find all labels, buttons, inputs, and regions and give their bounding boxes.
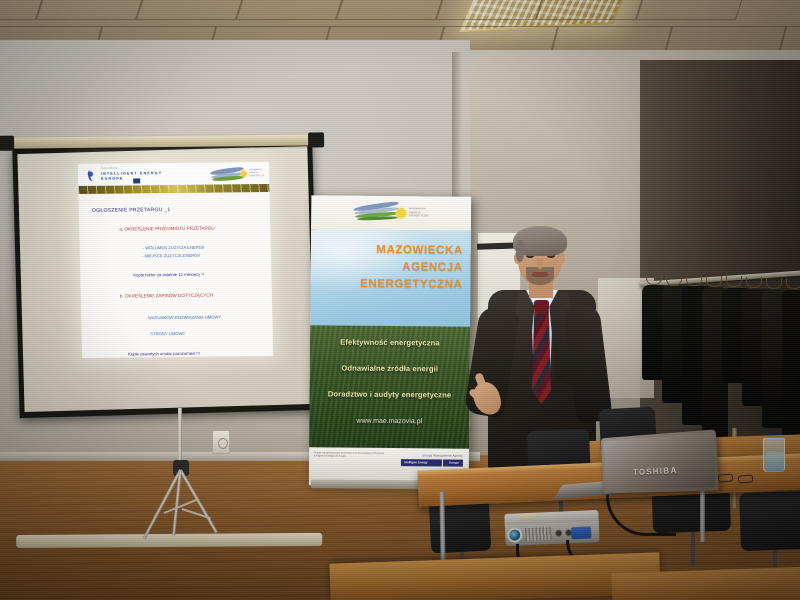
slide-point-a: a. OKREŚLENIE PRZEDMIOTU PRZETARGU <box>119 226 215 232</box>
slide-note-b: Kopie zawartych umów, porozumień !!! <box>128 351 200 357</box>
banner-iee-logo: Intelligent Energy Europe <box>401 459 463 467</box>
mae-sun-icon <box>240 170 247 177</box>
banner-sun-icon <box>396 208 406 218</box>
chair <box>429 498 492 553</box>
rollup-banner: MAZOWIECKAAGENCJAENERGETYCZNA MAZOWIECKA… <box>309 195 472 486</box>
projected-slide: Supported by INTELLIGENT ENERGY EUROPE M… <box>78 162 273 358</box>
banner-swoosh-darkgreen <box>357 216 398 221</box>
ie-line1: INTELLIGENT ENERGY <box>101 171 162 176</box>
presenter-tie <box>532 310 551 404</box>
ceiling-tile <box>36 0 144 20</box>
banner-website-url: www.mae.mazovia.pl <box>309 417 469 425</box>
ceiling-tile <box>236 0 344 20</box>
ceiling-tile <box>536 0 644 20</box>
iee-logo-left: Intelligent Energy <box>404 460 428 464</box>
ceiling-tile <box>436 0 544 20</box>
slide-supported-by: Supported by <box>101 167 118 170</box>
banner-footer-text: Projekt współfinansowany ze środków Unii… <box>314 452 394 459</box>
vga-connector <box>571 526 591 539</box>
mae-logo-caption: MAZOWIECKAAGENCJAENERGETYCZNA <box>249 169 265 178</box>
ceiling-tile <box>636 0 744 20</box>
ceiling-tile <box>136 0 244 20</box>
coat-hanger <box>766 278 782 289</box>
eyeglasses <box>718 474 760 484</box>
intelligent-energy-europe-logo: Supported by INTELLIGENT ENERGY EUROPE <box>87 167 165 183</box>
banner-logo-caption: MAZOWIECKAAGENCJAENERGETYCZNA <box>409 207 429 218</box>
banner-title-line3: ENERGETYCZNA <box>317 275 462 293</box>
eu-flag-icon <box>133 178 140 183</box>
ie-line2: EUROPE <box>101 176 123 180</box>
presenter-mouth <box>532 272 548 277</box>
slide-note-a: Kopie faktur za ostatnie 12 miesięcy !! <box>133 272 204 278</box>
conference-room-photo: Supported by INTELLIGENT ENERGY EUROPE M… <box>0 0 800 600</box>
coat-hanger <box>746 277 762 288</box>
banner-mae-logo: MAZOWIECKAAGENCJAENERGETYCZNA <box>353 202 429 225</box>
coat-hanger <box>786 278 800 289</box>
banner-service-1: Efektywność energetyczna <box>310 337 470 347</box>
slide-item-b1: - WARUNKÓW ROZWIĄZANIA UMOWY <box>145 315 221 321</box>
coat <box>782 290 800 451</box>
slide-programme-name: INTELLIGENT ENERGY EUROPE <box>101 171 163 182</box>
coat-hanger <box>706 276 722 287</box>
banner-title-line1: MAZOWIECKA <box>318 241 463 259</box>
presenter-nose <box>537 259 543 269</box>
slide-point-b: b. OKREŚLENIE ZAPISÓW DOTYCZĄCYCH <box>120 293 213 299</box>
laptop[interactable]: TOSHIBA <box>596 431 719 503</box>
chair <box>739 491 800 551</box>
banner-title-line2: AGENCJA <box>318 258 463 276</box>
eyeglass-lens-left <box>718 473 734 482</box>
ceiling-tile <box>336 0 444 20</box>
projector-focus-knob <box>518 514 534 521</box>
laptop-lid <box>601 429 719 493</box>
banner-header: MAZOWIECKAAGENCJAENERGETYCZNA <box>311 195 471 230</box>
banner-title: MAZOWIECKA AGENCJA ENERGETYCZNA <box>317 241 462 293</box>
eyeglass-lens-right <box>738 474 754 483</box>
table-foreground-right <box>611 567 800 600</box>
banner-service-2: Odnawialne źródła energii <box>310 363 470 373</box>
tripod-leg-left <box>179 469 218 533</box>
presenter-hair <box>513 226 567 256</box>
slide-mae-logo: MAZOWIECKAAGENCJAENERGETYCZNA <box>210 165 262 182</box>
tripod-pole <box>178 408 182 466</box>
coat-hanger <box>666 275 682 286</box>
iee-logo-right: Europe <box>449 461 459 465</box>
coat-hanger <box>686 275 702 286</box>
coat-hanger <box>726 276 742 287</box>
slide-title: OGŁOSZENIE PRZETARGU _1 <box>92 207 171 214</box>
slide-item-a1: - WOLUMEN ZUŻYCIA ENERGII <box>143 245 205 251</box>
slide-body: OGŁOSZENIE PRZETARGU _1 a. OKREŚLENIE PR… <box>78 192 273 358</box>
banner-ema-label: Energy Management Agency <box>422 453 463 457</box>
slide-item-a2: - MIEJSCE ZUŻYCIA ENERGII <box>142 253 200 259</box>
banner-service-3: Doradztwo i audyty energetyczne <box>309 389 469 399</box>
screen-tripod <box>150 408 270 543</box>
chair-leg <box>691 532 695 566</box>
presenter-tie-knot <box>534 300 549 313</box>
water-glass <box>763 438 785 472</box>
slide-header: Supported by INTELLIGENT ENERGY EUROPE M… <box>78 162 270 186</box>
projector-vent <box>525 527 552 541</box>
wall-power-outlet <box>212 430 230 454</box>
slide-item-b2: - STRONY UMOWY <box>148 331 186 336</box>
ie-star-icon <box>87 169 97 182</box>
